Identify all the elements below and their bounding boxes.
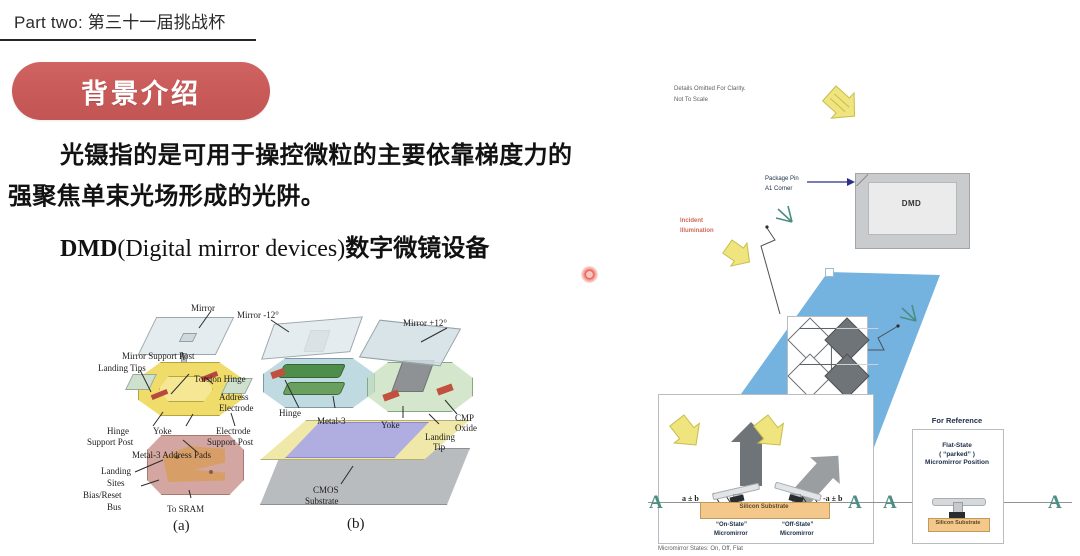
dmd-illumination-figure: DMD Details Omitted For Clarity. Not To … [640, 50, 1080, 556]
label-hinge-b: Hinge [279, 408, 301, 419]
label-mirror-a: Mirror [191, 303, 215, 314]
label-oxide-b: Oxide [455, 423, 477, 434]
on-mirror-label-line-2: Micromirror [714, 531, 748, 539]
micromirror-states-caption: Micromirror States: On, Off, Flat [658, 546, 743, 554]
slide: Part two: 第三十一届挑战杯 背景介绍 光镊指的是可用于操控微粒的主要依… [0, 0, 1080, 556]
section-marker-a-2: A [848, 492, 862, 514]
label-landing-a: Landing [101, 466, 131, 477]
label-electrode-a: Electrode [219, 403, 253, 414]
label-hinge-a: Hinge [107, 426, 129, 437]
section-marker-a-1: A [649, 492, 663, 514]
off-mirror-label-line-1: “Off-State” [782, 522, 813, 530]
angle-label-right: -a ± b [823, 494, 843, 503]
dmd-package-label: DMD [868, 199, 955, 208]
micromirror-sample-marker [825, 268, 834, 277]
label-torsion-hinge-a: Torsion Hinge [194, 374, 246, 385]
reference-substrate-label: Silicon Substrate [928, 520, 988, 526]
caption-a: (a) [173, 518, 190, 535]
reference-box-caption: Flat-State ( “parked” ) Micromirror Posi… [912, 442, 1002, 468]
label-yoke-b: Yoke [381, 420, 400, 431]
paragraph-line-2: 强聚焦单束光场形成的光阱。 [8, 183, 325, 210]
on-mirror-label-line-1: “On-State” [716, 522, 747, 530]
label-cmos-b: CMOS [313, 485, 339, 496]
hinge-bar-2-b [282, 382, 346, 395]
label-electrode-support-post-a: Support Post [207, 437, 253, 448]
section-banner-title: 背景介绍 [81, 72, 201, 111]
dmd-structure-figure: Mirror Mirror Support Post Landing Tips … [85, 300, 485, 550]
label-address-a: Address [219, 392, 249, 403]
silicon-substrate-label: Silicon Substrate [700, 504, 828, 510]
note-line-1: Details Omitted For Clarity. [674, 86, 746, 94]
micromirror-states-panel [658, 394, 874, 544]
label-substrate-b: Substrate [305, 496, 339, 507]
section-banner: 背景介绍 [12, 62, 270, 120]
label-to-sram-a: To SRAM [167, 504, 204, 515]
label-landing-tips-a: Landing Tips [98, 363, 146, 374]
dmd-chinese-name: 数字微镜设备 [345, 235, 489, 262]
hinge-bar-1-b [278, 364, 346, 378]
label-electrode-2-a: Electrode [216, 426, 250, 437]
package-pin-line-2: A1 Corner [765, 186, 792, 194]
dmd-english-name: (Digital mirror devices) [117, 236, 345, 262]
label-yoke-a: Yoke [153, 426, 172, 437]
section-marker-a-4: A [1048, 492, 1062, 514]
header-title: Part two: 第三十一届挑战杯 [14, 8, 225, 33]
caption-b: (b) [347, 516, 365, 533]
label-mirror-support-post-a: Mirror Support Post [122, 351, 195, 362]
reference-line-1: Flat-State [942, 442, 972, 449]
label-bias-reset-a: Bias/Reset [83, 490, 122, 501]
label-hinge-support-post-a: Support Post [87, 437, 133, 448]
off-mirror-label-line-2: Micromirror [780, 531, 814, 539]
package-pin-line-1: Package Pin [765, 176, 799, 184]
reference-line-2: ( “parked” ) [939, 451, 975, 458]
package-pin-arrow [807, 178, 855, 186]
label-mirror-minus12-b: Mirror -12° [237, 310, 279, 321]
dmd-abbreviation: DMD [60, 236, 117, 262]
note-line-2: Not To Scale [674, 97, 708, 105]
slide-header: Part two: 第三十一届挑战杯 [14, 4, 614, 36]
package-a1-corner [855, 173, 868, 186]
reference-line-3: Micromirror Position [925, 459, 989, 466]
label-tip-b: Tip [433, 442, 445, 453]
label-metal3-address-pads-a: Metal-3 Address Pads [132, 450, 211, 461]
reference-box-title: For Reference [912, 416, 1002, 425]
incident-illumination-line-2: Illumination [680, 228, 714, 236]
label-bus-a: Bus [107, 502, 121, 513]
incident-illumination-line-1: Incident [680, 218, 703, 226]
label-sites-a: Sites [107, 478, 125, 489]
paragraph-line-1: 光镊指的是可用于操控微粒的主要依靠梯度力的 [60, 142, 572, 169]
mirror-minus12-b [261, 316, 363, 359]
header-divider [0, 39, 256, 41]
dmd-active-area [868, 182, 957, 235]
angle-label-left: a ± b [682, 494, 699, 503]
body-paragraph: 光镊指的是可用于操控微粒的主要依靠梯度力的 强聚焦单束光场形成的光阱。 [8, 135, 656, 217]
label-mirror-plus12-b: Mirror +12° [403, 318, 447, 329]
dmd-definition-line: DMD(Digital mirror devices)数字微镜设备 [60, 232, 660, 266]
label-metal3-b: Metal-3 [317, 416, 346, 427]
via-2-a [209, 470, 213, 474]
laser-pointer-dot [581, 266, 598, 283]
section-marker-a-3: A [883, 492, 897, 514]
